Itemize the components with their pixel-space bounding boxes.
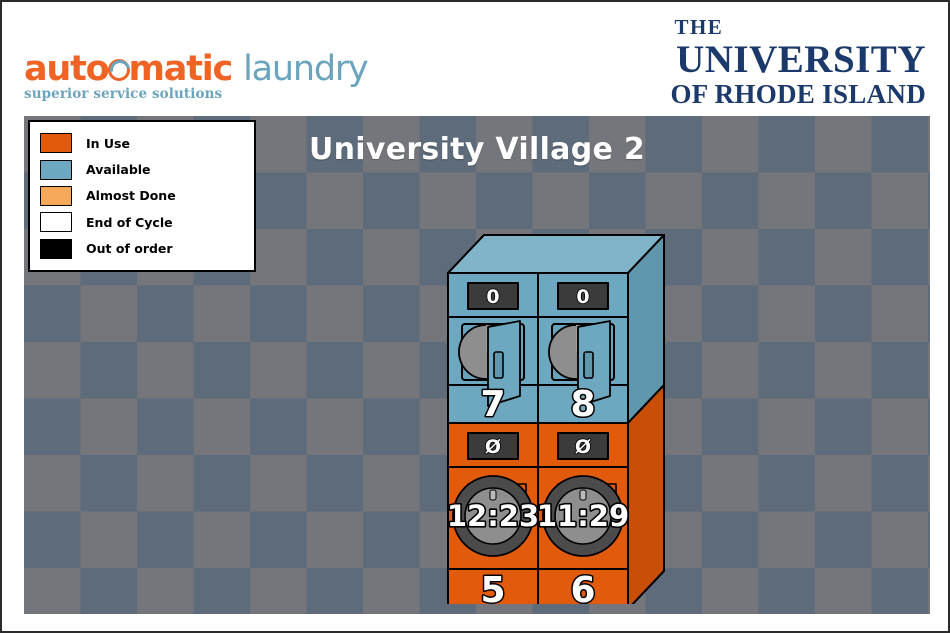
automatic-laundry-logo: automatic laundry superior service solut… (24, 50, 368, 102)
legend-swatch-in-use (40, 133, 72, 153)
uri-line-the: THE (670, 16, 926, 39)
page-header: automatic laundry superior service solut… (2, 2, 948, 116)
legend-label-almost-done: Almost Done (86, 188, 176, 203)
machine-5-time-remaining: 12:23 (447, 499, 539, 533)
machine-stack: 0 0 Ø Ø 7 8 5 6 12:23 11:29 (424, 226, 676, 604)
logo-text-laundry: laundry (243, 49, 367, 89)
legend-item-almost-done: Almost Done (40, 183, 246, 209)
laundry-status-page: automatic laundry superior service solut… (0, 0, 950, 633)
legend-item-available: Available (40, 156, 246, 182)
stack-side-face-orange (628, 385, 664, 604)
machine-8-display-text: 0 (576, 286, 589, 308)
legend-swatch-out-of-order (40, 239, 72, 259)
legend-label-in-use: In Use (86, 136, 130, 151)
stack-top-face (448, 235, 664, 273)
uri-line-of-rhode-island: OF RHODE ISLAND (670, 80, 926, 109)
university-of-rhode-island-logo: THE UNIVERSITY OF RHODE ISLAND (670, 16, 926, 109)
legend-label-out-of-order: Out of order (86, 241, 173, 256)
status-legend: In Use Available Almost Done End of Cycl… (28, 120, 256, 272)
legend-item-in-use: In Use (40, 130, 246, 156)
legend-item-end-of-cycle: End of Cycle (40, 209, 246, 235)
legend-item-out-of-order: Out of order (40, 236, 246, 262)
machine-6-time-remaining: 11:29 (537, 499, 629, 533)
machine-8-door-handle (584, 352, 593, 378)
legend-swatch-almost-done (40, 186, 72, 206)
legend-swatch-end-of-cycle (40, 212, 72, 232)
legend-swatch-available (40, 160, 72, 180)
machine-7-display-text: 0 (486, 286, 499, 308)
uri-line-university: UNIVERSITY (670, 39, 926, 80)
logo-text-auto: auto (24, 49, 109, 89)
machine-6-number: 6 (570, 570, 595, 604)
logo-o-ring-icon (108, 59, 130, 81)
machine-5-number: 5 (480, 570, 505, 604)
legend-label-available: Available (86, 162, 151, 177)
laundry-room-board: In Use Available Almost Done End of Cycl… (24, 116, 930, 614)
machine-6-display-text: Ø (575, 436, 591, 458)
machine-8-number: 8 (570, 384, 595, 425)
machine-7-number: 7 (480, 384, 505, 425)
automatic-laundry-wordmark: automatic laundry (24, 50, 368, 88)
machine-7-door-handle (494, 352, 503, 378)
logo-text-matic: matic (129, 49, 233, 89)
machine-5-display-text: Ø (485, 436, 501, 458)
legend-label-end-of-cycle: End of Cycle (86, 215, 173, 230)
